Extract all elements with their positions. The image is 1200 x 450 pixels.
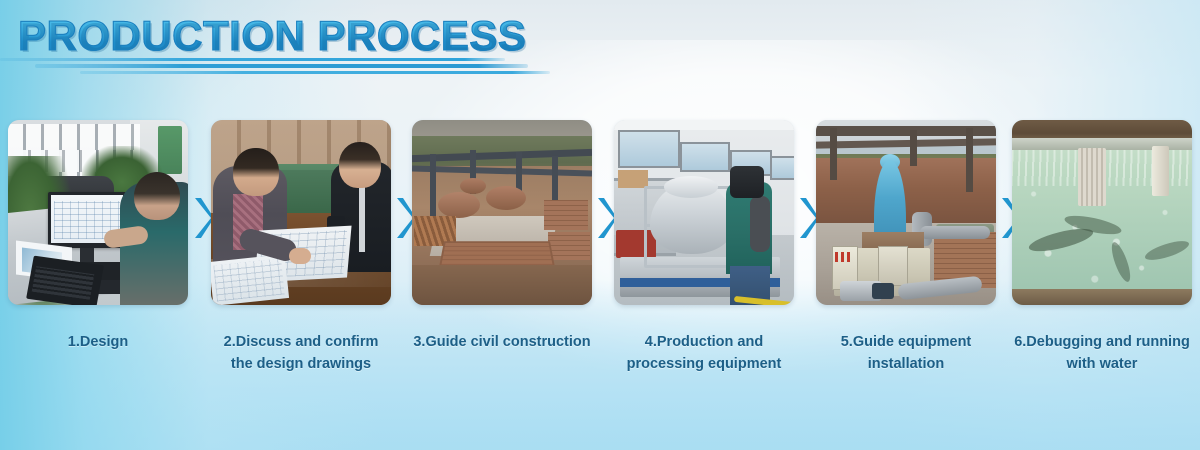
- workshop-window-4: [770, 156, 794, 180]
- process-step-2[interactable]: 2.Discuss and confirm the design drawing…: [211, 120, 391, 375]
- step-2-caption: 2.Discuss and confirm the design drawing…: [211, 331, 391, 375]
- monitor-stand: [80, 248, 94, 262]
- tank-near-edge: [1012, 289, 1192, 305]
- step-4-caption: 4.Production and processing equipment: [614, 331, 794, 375]
- drawing-grid-2: [213, 259, 284, 302]
- horizontal-pipe-upper: [920, 226, 990, 239]
- process-steps-strip: 1.Design 2.Discuss and confirm t: [0, 0, 1200, 450]
- process-step-3[interactable]: 3.Guide civil construction: [412, 120, 592, 353]
- brick-wall-right-2: [548, 232, 590, 260]
- step-4-photo: [614, 120, 794, 305]
- step-1-photo: [8, 120, 188, 305]
- jacket-stripe: [359, 182, 365, 252]
- white-outlet-pipe: [1152, 146, 1169, 196]
- step-2-photo: [211, 120, 391, 305]
- step-5-caption: 5.Guide equipment installation: [816, 331, 996, 375]
- welder-sleeve: [750, 196, 770, 252]
- brick-ring-2: [486, 186, 526, 210]
- roof-post-1: [830, 128, 837, 180]
- step-1-caption: 1.Design: [8, 331, 188, 353]
- slotted-standpipe: [1078, 148, 1106, 206]
- step-3-caption: 3.Guide civil construction: [412, 331, 592, 353]
- man-left-head: [233, 148, 279, 196]
- step-6-caption: 6.Debugging and running with water: [1012, 331, 1192, 375]
- step-6-photo: [1012, 120, 1192, 305]
- workshop-window-1: [618, 130, 680, 168]
- workshop-window-2: [680, 142, 730, 172]
- step-5-photo: [816, 120, 996, 305]
- roof-post-3: [966, 128, 973, 192]
- control-panel-right: [878, 246, 908, 286]
- welding-helmet: [730, 166, 764, 198]
- steel-column-3: [516, 152, 522, 192]
- engineer-head: [134, 172, 180, 220]
- pump-motor: [872, 283, 894, 299]
- cardboard-box: [618, 170, 648, 188]
- roof-post-2: [910, 130, 917, 166]
- brick-wall-right-1: [544, 200, 588, 230]
- vessel-top-cap: [664, 176, 718, 198]
- process-step-6[interactable]: 6.Debugging and running with water: [1012, 120, 1192, 375]
- steel-column-1: [430, 154, 436, 220]
- muddy-foreground: [412, 265, 592, 305]
- man-left-hand: [289, 248, 311, 264]
- man-right-head: [339, 142, 381, 188]
- process-step-1[interactable]: 1.Design: [8, 120, 188, 353]
- step-3-photo: [412, 120, 592, 305]
- process-step-5[interactable]: 5.Guide equipment installation: [816, 120, 996, 375]
- brick-ring-1: [438, 192, 480, 218]
- process-step-4[interactable]: 4.Production and processing equipment: [614, 120, 794, 375]
- workshop-ceiling: [614, 120, 794, 130]
- control-panel-indicators: [835, 252, 853, 262]
